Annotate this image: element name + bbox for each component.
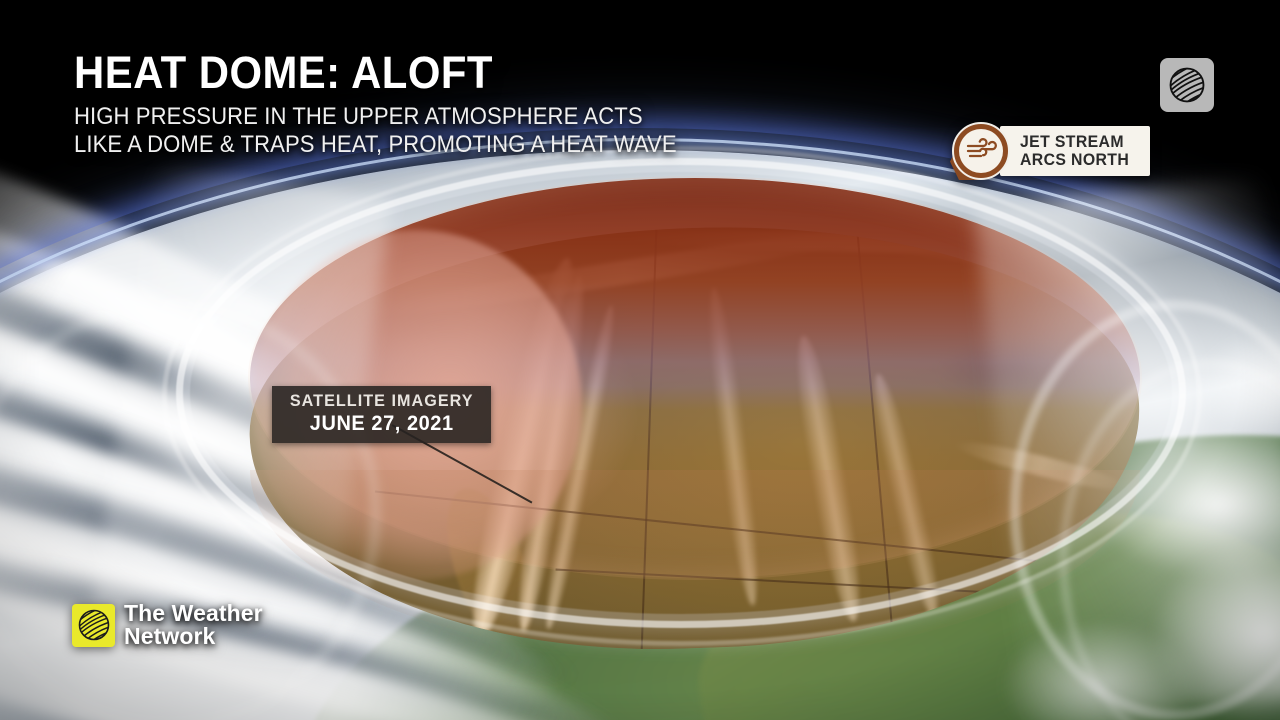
badge-circle bbox=[952, 122, 1010, 180]
weather-network-name-line-2: Network bbox=[124, 625, 263, 648]
globe-striped-icon bbox=[1167, 65, 1207, 105]
jet-stream-badge-line-2: ARCS NORTH bbox=[1020, 151, 1129, 169]
satellite-imagery-date: JUNE 27, 2021 bbox=[290, 412, 474, 436]
jet-stream-badge-icon-wrap bbox=[952, 122, 1010, 180]
weather-network-logo: The Weather Network bbox=[72, 602, 263, 648]
headline-subtitle: HIGH PRESSURE IN THE UPPER ATMOSPHERE AC… bbox=[74, 103, 677, 160]
page-title: HEAT DOME: ALOFT bbox=[74, 50, 683, 96]
weather-network-mark bbox=[72, 604, 115, 647]
weather-network-wordmark: The Weather Network bbox=[124, 602, 263, 648]
terrain-shadow bbox=[937, 334, 1089, 399]
headline-subtitle-line-2: LIKE A DOME & TRAPS HEAT, PROMOTING A HE… bbox=[74, 131, 677, 159]
badge-inner-circle bbox=[959, 129, 1003, 173]
jet-stream-badge-panel: JET STREAM ARCS NORTH bbox=[1000, 126, 1150, 177]
satellite-imagery-caption: SATELLITE IMAGERY bbox=[290, 391, 474, 411]
broadcast-graphic-stage: HEAT DOME: ALOFT HIGH PRESSURE IN THE UP… bbox=[0, 0, 1280, 720]
satellite-imagery-label: SATELLITE IMAGERY JUNE 27, 2021 bbox=[272, 386, 491, 443]
headline-block: HEAT DOME: ALOFT HIGH PRESSURE IN THE UP… bbox=[74, 50, 729, 160]
wind-icon bbox=[965, 138, 997, 164]
jet-stream-badge: JET STREAM ARCS NORTH bbox=[952, 122, 1150, 180]
mountain-ridge bbox=[701, 286, 766, 607]
jet-stream-badge-line-1: JET STREAM bbox=[1020, 133, 1129, 151]
headline-subtitle-line-1: HIGH PRESSURE IN THE UPPER ATMOSPHERE AC… bbox=[74, 103, 677, 131]
mountain-ridge bbox=[951, 434, 1130, 497]
channel-watermark bbox=[1160, 58, 1214, 112]
weather-network-name-line-1: The Weather bbox=[124, 602, 263, 625]
globe-striped-icon bbox=[77, 608, 111, 642]
political-border-line bbox=[641, 230, 657, 650]
mountain-ridge bbox=[864, 371, 948, 621]
